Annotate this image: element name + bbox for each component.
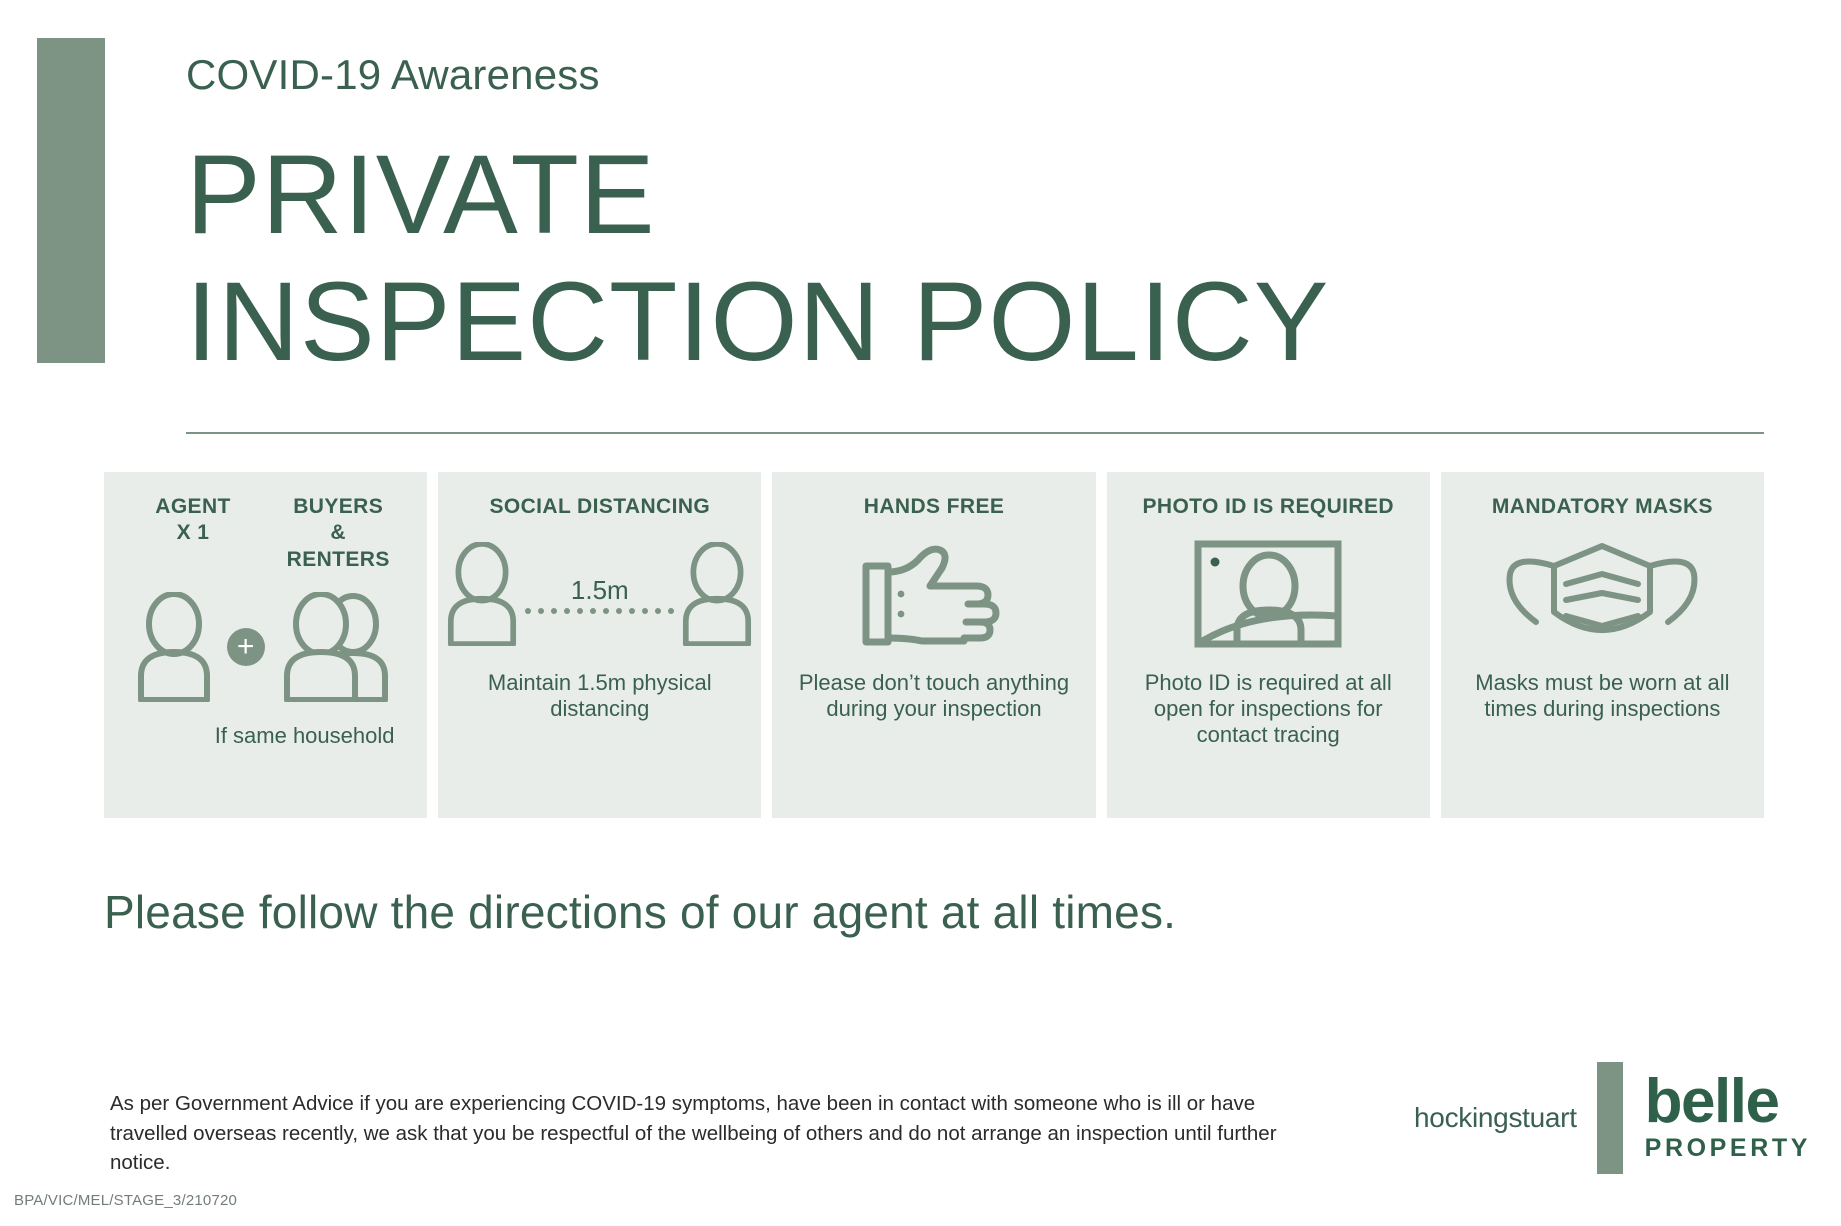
logo-group: hockingstuart belle PROPERTY — [1414, 1062, 1811, 1174]
belle-property-logo: belle PROPERTY — [1597, 1062, 1811, 1174]
card-social-distancing-caption: Maintain 1.5m physical distancing — [438, 670, 761, 721]
card-mandatory-masks-caption: Masks must be worn at all times during i… — [1441, 670, 1764, 721]
belle-subtitle: PROPERTY — [1645, 1134, 1811, 1163]
hockingstuart-logo: hockingstuart — [1414, 1102, 1577, 1134]
card-hands-free-caption: Please don’t touch anything during your … — [772, 670, 1095, 721]
hand-icon — [856, 538, 1012, 650]
card-social-distancing: SOCIAL DISTANCING 1.5m — [438, 472, 761, 818]
card-heading-buyers: BUYERS & RENTERS — [283, 494, 393, 573]
card-heading-buyers-line1: BUYERS & — [293, 495, 383, 544]
people-group-icon — [279, 592, 397, 702]
person-icon — [135, 592, 213, 702]
poster-root: COVID-19 Awareness PRIVATE INSPECTION PO… — [0, 0, 1841, 1226]
card-heading-hands-free: HANDS FREE — [864, 494, 1005, 520]
info-card-row: AGENT x 1 BUYERS & RENTERS + — [104, 472, 1764, 818]
card-heading-agent-line2: x 1 — [177, 521, 210, 544]
person-icon-right — [680, 542, 754, 646]
card-hands-free-icon — [772, 528, 1095, 660]
distance-label: 1.5m — [571, 575, 629, 606]
page-title-line-1: PRIVATE — [186, 132, 1796, 259]
card-heading-agent: AGENT x 1 — [138, 494, 248, 573]
tagline: Please follow the directions of our agen… — [104, 885, 1176, 939]
title-divider — [186, 432, 1764, 434]
photo-id-card-icon — [1193, 538, 1343, 650]
card-agent-buyers-caption: If same household — [203, 723, 417, 749]
dotted-line-icon — [525, 608, 674, 614]
card-agent-buyers: AGENT x 1 BUYERS & RENTERS + — [104, 472, 427, 818]
card-heading-agent-line1: AGENT — [155, 495, 231, 518]
face-mask-icon — [1496, 538, 1708, 650]
accent-bar — [37, 38, 105, 363]
belle-wordmark: belle PROPERTY — [1645, 1062, 1811, 1174]
belle-accent-bar — [1597, 1062, 1623, 1174]
card-photo-id-icon — [1107, 528, 1430, 660]
card-mandatory-masks: MANDATORY MASKS Masks mu — [1441, 472, 1764, 818]
eyebrow-text: COVID-19 Awareness — [186, 52, 1796, 98]
header: COVID-19 Awareness PRIVATE INSPECTION PO… — [186, 52, 1796, 385]
card-photo-id-caption: Photo ID is required at all open for ins… — [1107, 670, 1430, 747]
plus-icon: + — [227, 628, 265, 666]
card-mandatory-masks-icon — [1441, 528, 1764, 660]
reference-code: BPA/VIC/MEL/STAGE_3/210720 — [14, 1192, 237, 1209]
card-agent-buyers-headings: AGENT x 1 BUYERS & RENTERS — [104, 494, 427, 573]
card-heading-photo-id: PHOTO ID IS REQUIRED — [1142, 494, 1393, 520]
belle-name: belle — [1645, 1073, 1811, 1130]
page-title-line-2: INSPECTION POLICY — [186, 259, 1796, 386]
person-icon-left — [445, 542, 519, 646]
card-hands-free: HANDS FREE Pl — [772, 472, 1095, 818]
card-photo-id: PHOTO ID IS REQUIRED Photo ID is require… — [1107, 472, 1430, 818]
card-heading-mandatory-masks: MANDATORY MASKS — [1492, 494, 1713, 520]
fineprint-disclaimer: As per Government Advice if you are expe… — [110, 1089, 1285, 1178]
distance-indicator: 1.5m — [525, 575, 674, 614]
card-social-distancing-icon: 1.5m — [438, 528, 761, 660]
card-agent-buyers-icons: + — [104, 581, 427, 713]
card-heading-buyers-line2: RENTERS — [287, 548, 390, 571]
card-heading-social-distancing: SOCIAL DISTANCING — [489, 494, 710, 520]
